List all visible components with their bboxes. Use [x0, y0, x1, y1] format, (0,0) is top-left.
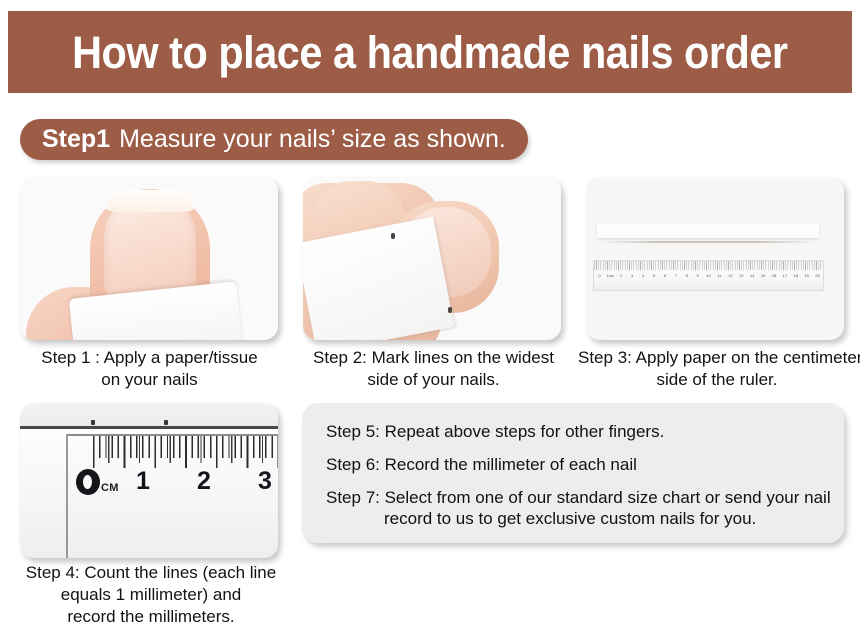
ruler-zero-counter — [83, 475, 92, 489]
ruler-tick-label: 17 — [779, 273, 790, 278]
paper-strip-shadow — [600, 241, 816, 243]
ruler-tick-label: 7 — [670, 273, 681, 278]
photo-background — [586, 177, 844, 340]
caption-line: side of your nails. — [296, 369, 571, 391]
ruler-number-row: 0 1cm 2 3 4 5 6 7 8 9 10 11 12 13 14 15 — [594, 271, 823, 280]
ruler-tick-label: 14 — [747, 273, 758, 278]
caption-line: Step 3: Apply paper on the centimeter — [578, 347, 856, 369]
step5-text: Step 5: Repeat above steps for other fin… — [326, 422, 664, 441]
fingers-marking-paper-strip-photo — [303, 177, 561, 340]
steps-5-7-panel: Step 5: Repeat above steps for other fin… — [302, 403, 844, 543]
ruler-tick-label: 6 — [659, 273, 670, 278]
caption-line: record the millimeters. — [8, 606, 294, 628]
ruler-tick-label: 3 — [627, 273, 638, 278]
ruler-tick-label: 2 — [616, 273, 627, 278]
thumb-with-paper-strip-photo — [20, 177, 278, 340]
ruler-tick-label: 19 — [801, 273, 812, 278]
ruler-with-paper-strip-photo: 0 1cm 2 3 4 5 6 7 8 9 10 11 12 13 14 15 — [586, 177, 844, 340]
ruler-tick-label: 18 — [790, 273, 801, 278]
caption-step2: Step 2: Mark lines on the widest side of… — [296, 347, 571, 391]
page-title: How to place a handmade nails order — [72, 30, 787, 75]
header-banner: How to place a handmade nails order — [8, 11, 852, 93]
ruler-tick-label: 1cm — [605, 273, 616, 278]
caption-line: Step 1 : Apply a paper/tissue — [12, 347, 287, 369]
ruler-number-3: 3 — [258, 467, 272, 496]
ruler-tick-label: 10 — [703, 273, 714, 278]
step7-text-continued: record to us to get exclusive custom nai… — [326, 508, 844, 529]
step1-badge-number: Step1 — [42, 125, 110, 154]
ruler-number-1: 1 — [136, 467, 150, 496]
step7-text: Step 7: Select from one of our standard … — [326, 488, 831, 507]
step6-row: Step 6: Record the millimeter of each na… — [302, 454, 844, 475]
step1-badge: Step1 Measure your nails’ size as shown. — [20, 119, 528, 160]
ruler-tick-marks — [594, 261, 823, 270]
ruler-tick-label: 12 — [725, 273, 736, 278]
caption-step1: Step 1 : Apply a paper/tissue on your na… — [12, 347, 287, 391]
photo-card-step4: CM 1 2 3 — [20, 403, 278, 558]
caption-step4: Step 4: Count the lines (each line equal… — [8, 562, 294, 627]
ruler-tick-label: 16 — [769, 273, 780, 278]
ruler-tick-label: 15 — [758, 273, 769, 278]
photo-card-step2 — [303, 177, 561, 340]
paper-strip-shape — [597, 224, 819, 238]
pencil-mark-bottom — [448, 307, 452, 313]
caption-line: Step 2: Mark lines on the widest — [296, 347, 571, 369]
ruler-unit-label: CM — [101, 482, 119, 494]
ruler-centimeter-ticks — [93, 436, 278, 468]
pencil-mark-right — [164, 420, 168, 425]
step6-text: Step 6: Record the millimeter of each na… — [326, 455, 637, 474]
ruler-tick-label: 4 — [638, 273, 649, 278]
ruler-tick-label: 20 — [812, 273, 823, 278]
caption-line: on your nails — [12, 369, 287, 391]
photo-card-step1 — [20, 177, 278, 340]
caption-line: equals 1 millimeter) and — [8, 584, 294, 606]
pencil-mark-left — [91, 420, 95, 425]
ruler-number-2: 2 — [197, 467, 211, 496]
ruler-shape: 0 1cm 2 3 4 5 6 7 8 9 10 11 12 13 14 15 — [593, 260, 824, 291]
caption-step3: Step 3: Apply paper on the centimeter si… — [578, 347, 856, 391]
step1-badge-text: Measure your nails’ size as shown. — [119, 125, 506, 154]
pencil-mark-top — [391, 233, 395, 239]
nail-tip-shape — [106, 190, 194, 212]
step5-row: Step 5: Repeat above steps for other fin… — [302, 421, 844, 442]
caption-line: Step 4: Count the lines (each line — [8, 562, 294, 584]
ruler-tick-label: 13 — [736, 273, 747, 278]
ruler-tick-label: 11 — [714, 273, 725, 278]
ruler-tick-label: 9 — [692, 273, 703, 278]
infographic-page: How to place a handmade nails order Step… — [0, 0, 860, 631]
step7-row: Step 7: Select from one of our standard … — [302, 487, 844, 529]
ruler-closeup-millimeters-photo: CM 1 2 3 — [20, 403, 278, 558]
ruler-tick-label: 5 — [649, 273, 660, 278]
ruler-left-edge — [66, 434, 68, 558]
ruler-tick-label: 0 — [594, 273, 605, 278]
ruler-tick-label: 8 — [681, 273, 692, 278]
caption-line: side of the ruler. — [578, 369, 856, 391]
photo-card-step3: 0 1cm 2 3 4 5 6 7 8 9 10 11 12 13 14 15 — [586, 177, 844, 340]
